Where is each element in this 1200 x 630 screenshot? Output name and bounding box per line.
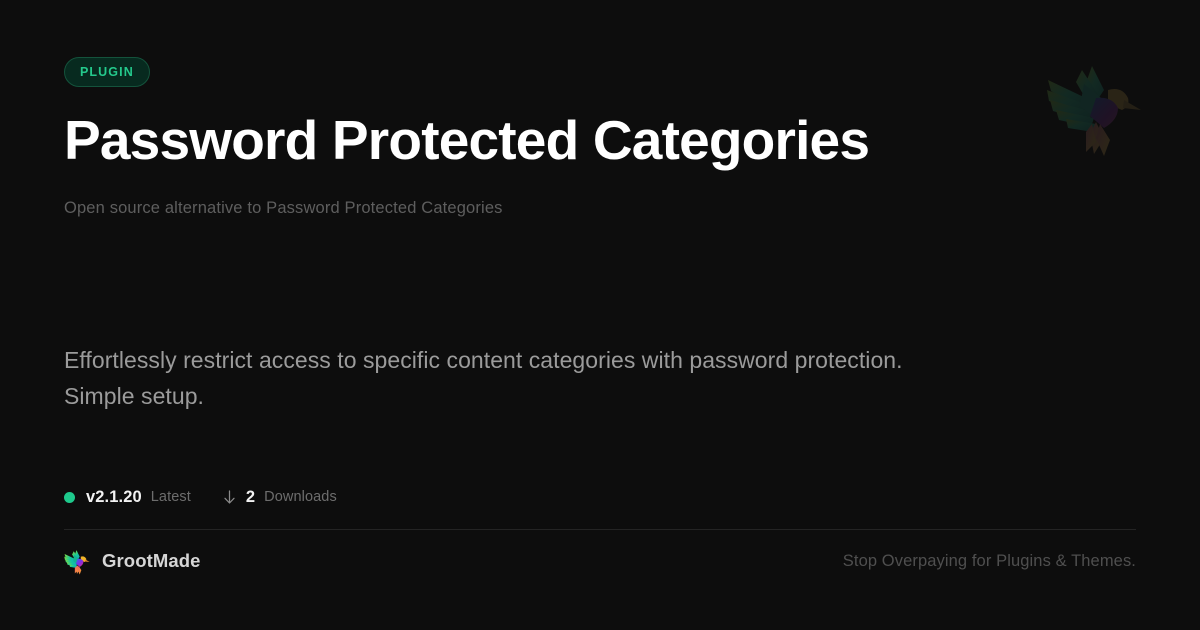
footer-tagline: Stop Overpaying for Plugins & Themes. [843,552,1136,571]
brand: GrootMade [64,548,201,575]
hummingbird-logo-icon [64,548,90,575]
page-subtitle: Open source alternative to Password Prot… [64,197,1136,220]
status-badge: PLUGIN [64,57,150,87]
version-value: v2.1.20 [86,488,142,507]
downloads-label: Downloads [264,489,337,505]
page-description: Effortlessly restrict access to specific… [64,342,914,414]
brand-name: GrootMade [102,550,201,572]
badge-row: PLUGIN [64,57,1136,87]
meta-row: v2.1.20 Latest 2 Downloads [64,486,337,508]
version-group: v2.1.20 Latest [64,488,191,507]
status-dot-icon [64,492,75,503]
downloads-group: 2 Downloads [223,488,337,507]
version-label: Latest [151,489,191,505]
footer-divider [64,529,1136,530]
downloads-count: 2 [246,488,255,507]
page-title: Password Protected Categories [64,111,1136,169]
footer: GrootMade Stop Overpaying for Plugins & … [64,546,1136,576]
social-card: PLUGIN Password Protected Categories Ope… [0,0,1200,630]
download-arrow-icon [223,490,236,505]
